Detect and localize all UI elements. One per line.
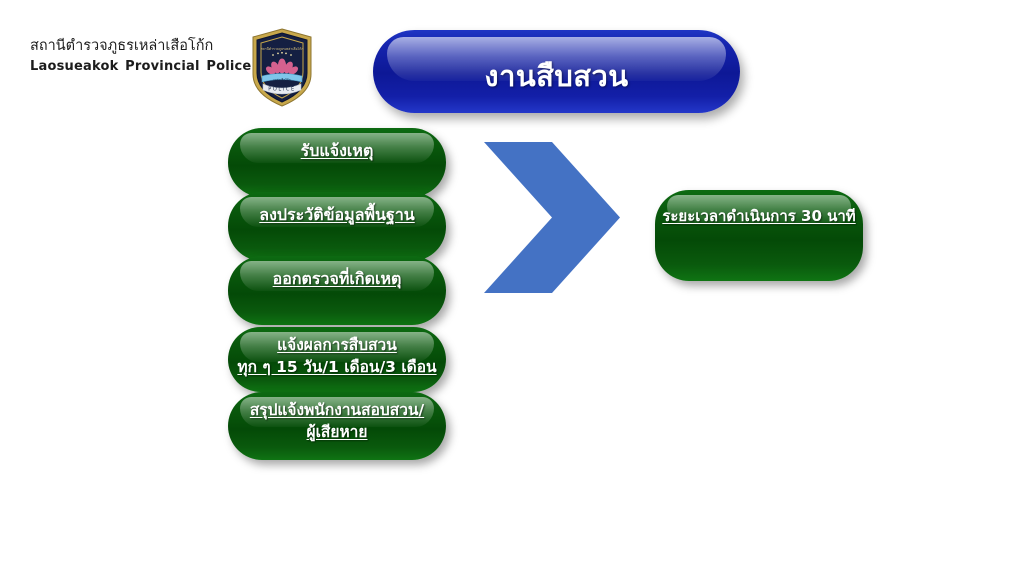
flow-step-label-line1: แจ้งผลการสืบสวน <box>277 336 397 354</box>
flow-outcome-duration[interactable]: ระยะเวลาดำเนินการ 30 นาที <box>655 190 863 281</box>
badge-police-text: POLICE <box>268 87 295 93</box>
flow-step-4[interactable]: แจ้งผลการสืบสวนทุก ๆ 15 วัน/1 เดือน/3 เด… <box>228 327 446 392</box>
police-badge-icon: สถานีตำรวจภูธรเหล่าเสือโก้ก เหล่าเสือโก้… <box>249 28 315 108</box>
flow-step-label-line1: สรุปแจ้งพนักงานสอบสวน/ <box>250 401 424 419</box>
flow-step-label: ลงประวัติข้อมูลพื้นฐาน <box>259 203 414 226</box>
flow-outcome-label: ระยะเวลาดำเนินการ 30 นาที <box>662 206 855 228</box>
flow-step-label-multiline: สรุปแจ้งพนักงานสอบสวน/ผู้เสียหาย <box>250 399 424 444</box>
svg-text:เหล่าเสือโก้ก: เหล่าเสือโก้ก <box>273 77 291 82</box>
organization-name-english: Laosueakok Provincial Police Station <box>30 57 240 77</box>
slide-canvas: สถานีตำรวจภูธรเหล่าเสือโก้ก Laosueakok P… <box>0 0 1024 576</box>
flow-step-3[interactable]: ออกตรวจที่เกิดเหตุ <box>228 256 446 325</box>
flow-step-label-line2: ผู้เสียหาย <box>250 421 424 443</box>
slide-title-pill: งานสืบสวน <box>373 30 740 113</box>
organization-header: สถานีตำรวจภูธรเหล่าเสือโก้ก Laosueakok P… <box>30 36 240 77</box>
chevron-right-icon <box>480 142 622 293</box>
flow-step-label: ออกตรวจที่เกิดเหตุ <box>273 267 402 290</box>
svg-text:สถานีตำรวจภูธรเหล่าเสือโก้ก: สถานีตำรวจภูธรเหล่าเสือโก้ก <box>261 46 304 51</box>
flow-step-label: รับแจ้งเหตุ <box>301 139 374 162</box>
organization-name-thai: สถานีตำรวจภูธรเหล่าเสือโก้ก <box>30 36 240 57</box>
flow-step-2[interactable]: ลงประวัติข้อมูลพื้นฐาน <box>228 192 446 261</box>
flow-step-5[interactable]: สรุปแจ้งพนักงานสอบสวน/ผู้เสียหาย <box>228 392 446 460</box>
flow-step-label-multiline: แจ้งผลการสืบสวนทุก ๆ 15 วัน/1 เดือน/3 เด… <box>237 334 436 379</box>
flow-step-1[interactable]: รับแจ้งเหตุ <box>228 128 446 197</box>
flow-step-label-line2: ทุก ๆ 15 วัน/1 เดือน/3 เดือน <box>237 356 436 378</box>
page-title: งานสืบสวน <box>484 45 628 99</box>
